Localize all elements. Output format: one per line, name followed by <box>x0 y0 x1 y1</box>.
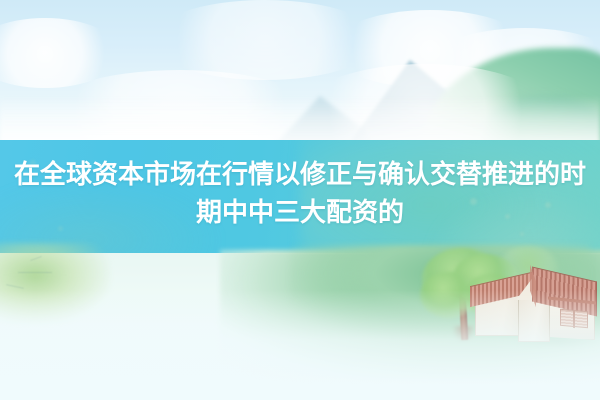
texture-stroke <box>18 272 52 273</box>
headline-line-2: 期中中三大配资的 <box>0 193 600 231</box>
leaf-speck <box>520 232 524 236</box>
headline-line-1: 在全球资本市场在行情以修正与确认交替推进的时 <box>0 155 600 193</box>
bottom-haze <box>0 290 600 400</box>
illustration-banner: 在全球资本市场在行情以修正与确认交替推进的时 期中中三大配资的 <box>0 0 600 400</box>
headline-text: 在全球资本市场在行情以修正与确认交替推进的时 期中中三大配资的 <box>0 155 600 231</box>
